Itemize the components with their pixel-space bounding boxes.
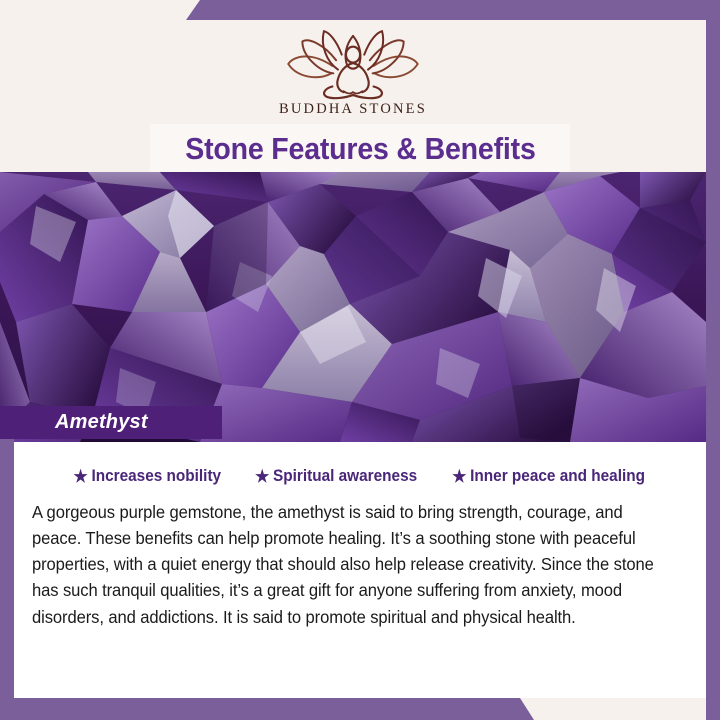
brand-name: BUDDHA STONES (279, 101, 427, 118)
benefit-label: Spiritual awareness (273, 467, 417, 486)
bottom-accent-band (0, 698, 720, 720)
benefit-label: Increases nobility (91, 467, 221, 486)
star-icon: ★ (452, 468, 466, 485)
title-banner: Stone Features & Benefits (150, 124, 570, 174)
stone-photo (0, 172, 706, 442)
lotus-meditation-icon (273, 28, 433, 100)
stone-description: A gorgeous purple gemstone, the amethyst… (32, 499, 665, 630)
content-panel: ★ Increases nobility ★ Spiritual awarene… (14, 442, 706, 698)
stone-name-bar: Amethyst (0, 406, 222, 439)
stone-name-label: Amethyst (55, 411, 148, 434)
poster-root: BUDDHA STONES Stone Features & Benefits (0, 0, 720, 720)
left-accent-border (0, 439, 14, 698)
benefits-row: ★ Increases nobility ★ Spiritual awarene… (32, 467, 688, 486)
benefit-item: ★ Increases nobility (73, 467, 221, 486)
top-accent-band (0, 0, 720, 20)
benefit-item: ★ Inner peace and healing (452, 467, 645, 486)
star-icon: ★ (73, 468, 87, 485)
benefit-item: ★ Spiritual awareness (255, 467, 417, 486)
star-icon: ★ (255, 468, 269, 485)
benefit-label: Inner peace and healing (470, 467, 645, 486)
right-accent-border (706, 0, 720, 720)
page-title: Stone Features & Benefits (185, 131, 535, 167)
